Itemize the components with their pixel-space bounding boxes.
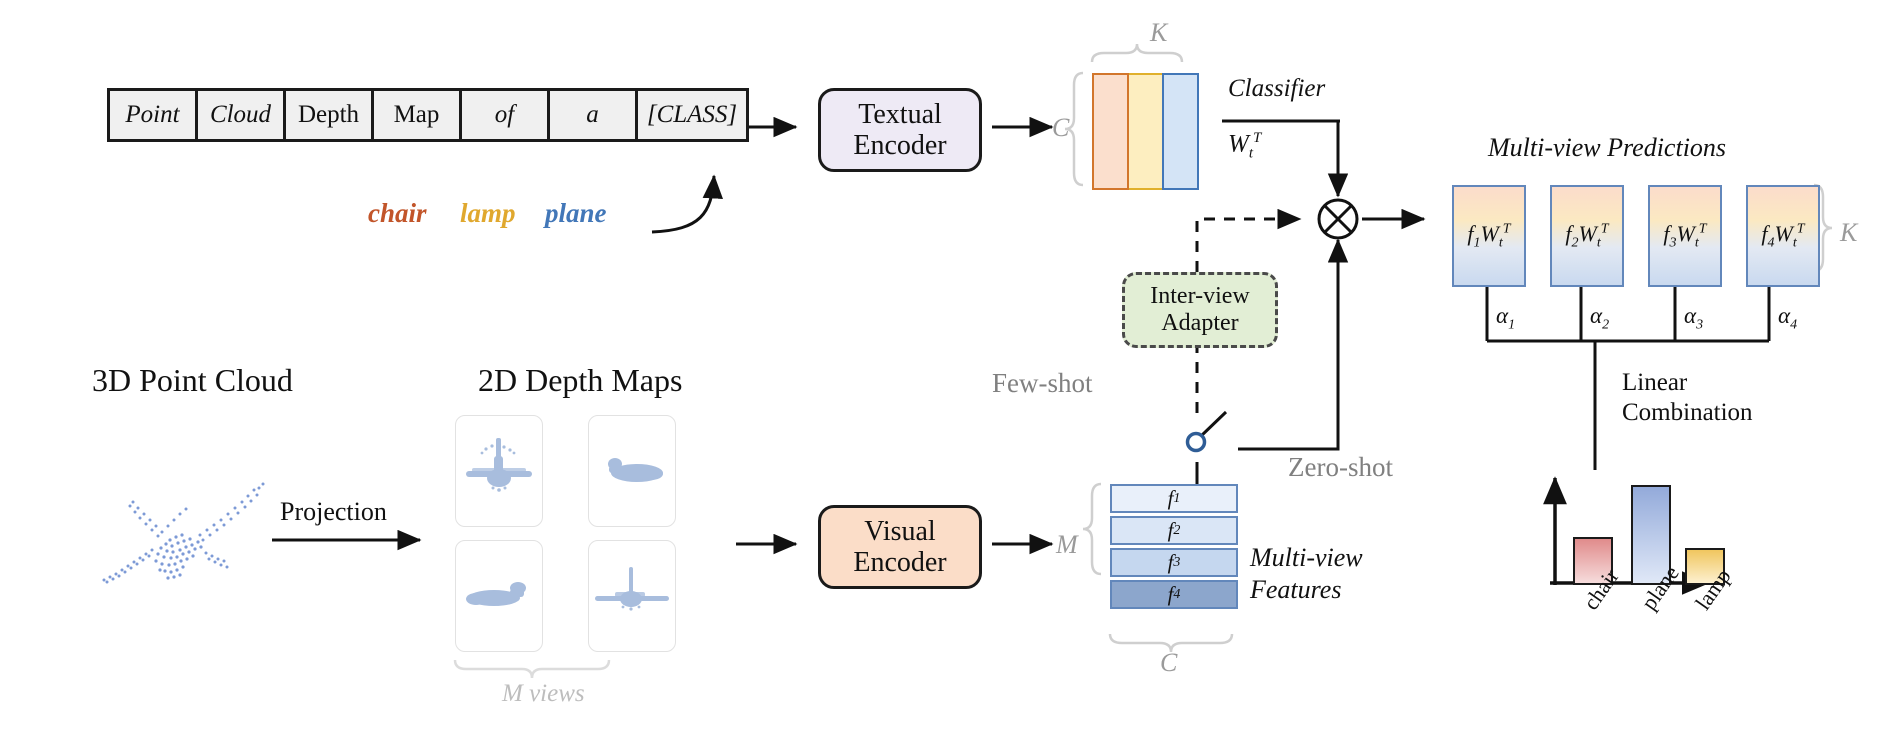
linear-combination-line1: Linear: [1622, 368, 1753, 398]
feature-row-2: f2: [1110, 516, 1238, 545]
feature-row-3: f3: [1110, 548, 1238, 577]
textual-encoder-box: Textual Encoder: [818, 88, 982, 172]
few-shot-label: Few-shot: [992, 368, 1093, 399]
prompt-token-0: Point: [110, 91, 198, 139]
predictions-brace-k-label: K: [1840, 218, 1857, 248]
classifier-title: Classifier: [1228, 75, 1325, 103]
linear-combination-caption: Linear Combination: [1622, 368, 1753, 428]
classifier-weight-symbol: W: [1228, 130, 1249, 157]
feature-row-4: f4: [1110, 580, 1238, 609]
visual-encoder-line2: Encoder: [853, 547, 946, 578]
depth-map-tile-2: [588, 415, 676, 527]
prediction-label-1: f1WtT: [1467, 221, 1510, 251]
prediction-box-row: f1WtT f2WtT f3WtT f4WtT: [1452, 185, 1820, 287]
result-bar-chart: [1555, 468, 1725, 585]
classifier-matrix: [1092, 73, 1199, 186]
prompt-token-5: a: [550, 91, 638, 139]
prediction-box-2: f2WtT: [1550, 185, 1624, 287]
prompt-token-class: [CLASS]: [638, 91, 746, 139]
textual-encoder-line2: Encoder: [853, 130, 946, 161]
alpha-weight-4: α4: [1778, 303, 1797, 334]
adapter-line1: Inter-view: [1150, 283, 1249, 310]
visual-encoder-box: Visual Encoder: [818, 505, 982, 589]
alpha-weight-1: α1: [1496, 303, 1515, 334]
features-caption-line2: Features: [1250, 574, 1363, 606]
prompt-token-4: of: [462, 91, 550, 139]
class-word-lamp: lamp: [460, 198, 516, 229]
zero-shot-label: Zero-shot: [1288, 452, 1393, 483]
prediction-label-2: f2WtT: [1565, 221, 1608, 251]
depth-map-front-view: [456, 416, 542, 526]
projection-label: Projection: [280, 497, 387, 527]
depth-map-rear-view: [589, 541, 675, 651]
class-word-chair: chair: [368, 198, 427, 229]
prediction-box-3: f3WtT: [1648, 185, 1722, 287]
features-caption: Multi-view Features: [1250, 542, 1363, 605]
classifier-brace-k-label: K: [1150, 18, 1167, 48]
linear-combination-line2: Combination: [1622, 398, 1753, 428]
prediction-label-3: f3WtT: [1663, 221, 1706, 251]
prompt-token-1: Cloud: [198, 91, 286, 139]
prompt-token-3: Map: [374, 91, 462, 139]
depth-maps-caption: M views: [502, 680, 585, 708]
predictions-title: Multi-view Predictions: [1488, 133, 1726, 163]
classifier-column-lamp: [1129, 73, 1162, 190]
point-cloud-title: 3D Point Cloud: [92, 362, 293, 399]
classifier-column-chair: [1092, 73, 1129, 190]
feature-row-1: f1: [1110, 484, 1238, 513]
classifier-weight-formula: WtT: [1228, 130, 1261, 162]
depth-map-tile-1: [455, 415, 543, 527]
depth-map-tile-3: [455, 540, 543, 652]
classifier-weight-sub: t: [1249, 145, 1253, 161]
adapter-line2: Adapter: [1161, 310, 1238, 337]
prediction-box-1: f1WtT: [1452, 185, 1526, 287]
features-brace-c-label: C: [1160, 648, 1177, 678]
class-word-plane: plane: [545, 198, 607, 229]
feature-stack: f1 f2 f3 f4: [1110, 484, 1238, 609]
textual-encoder-line1: Textual: [858, 99, 942, 130]
classifier-column-plane: [1162, 73, 1199, 190]
features-caption-line1: Multi-view: [1250, 542, 1363, 574]
depth-maps-title: 2D Depth Maps: [478, 362, 682, 399]
alpha-weight-3: α3: [1684, 303, 1703, 334]
prompt-token-2: Depth: [286, 91, 374, 139]
inter-view-adapter-box: Inter-view Adapter: [1122, 272, 1278, 348]
point-cloud-render: [70, 440, 290, 610]
depth-map-side-left-view: [456, 541, 542, 651]
visual-encoder-line1: Visual: [864, 516, 935, 547]
prompt-token-row: Point Cloud Depth Map of a [CLASS]: [107, 88, 749, 142]
classifier-weight-sup: T: [1253, 130, 1261, 146]
features-brace-m-label: M: [1056, 530, 1078, 560]
prediction-label-4: f4WtT: [1761, 221, 1804, 251]
prediction-box-4: f4WtT: [1746, 185, 1820, 287]
alpha-weight-2: α2: [1590, 303, 1609, 334]
depth-map-tile-4: [588, 540, 676, 652]
depth-map-side-right-view: [589, 416, 675, 526]
classifier-brace-c-label: C: [1052, 113, 1069, 143]
